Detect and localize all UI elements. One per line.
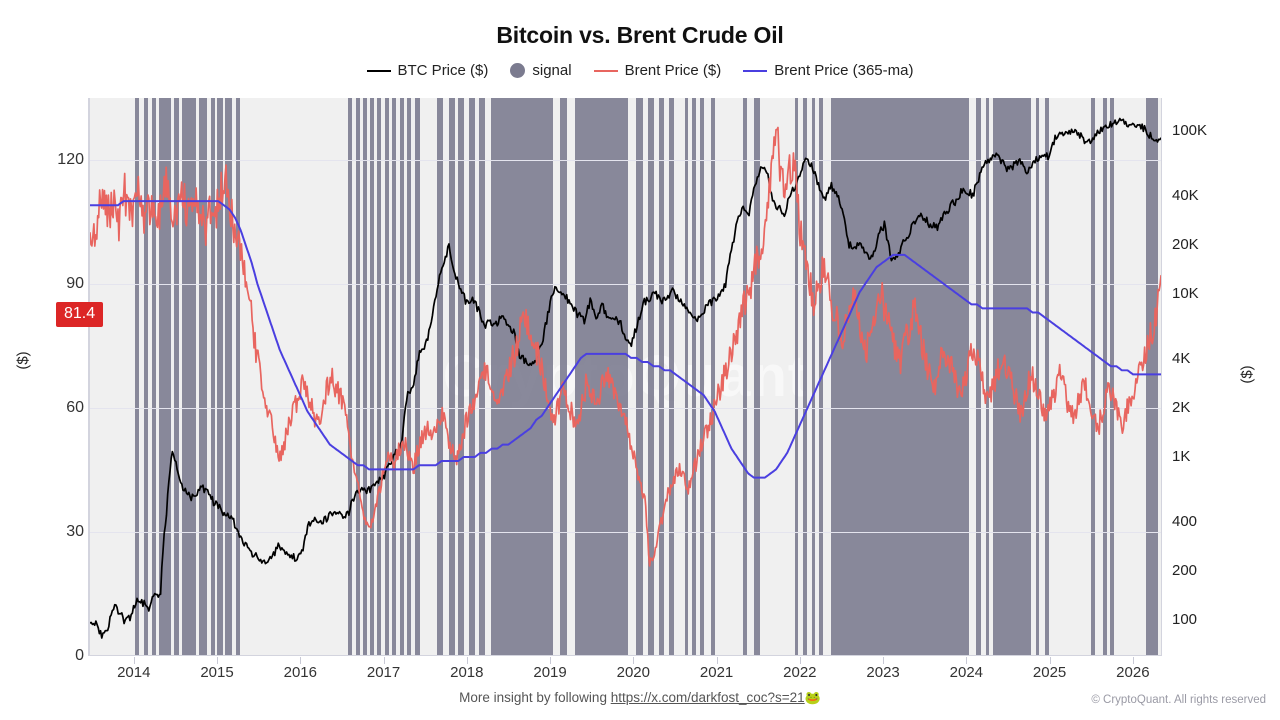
y-tick-right: 2K xyxy=(1172,399,1262,416)
legend-item-3[interactable]: Brent Price (365-ma) xyxy=(743,62,913,79)
legend-label: signal xyxy=(532,62,571,79)
x-tick-mark xyxy=(717,657,718,664)
legend-line-icon xyxy=(594,70,618,72)
x-tick-mark xyxy=(384,657,385,664)
y-tick-right: 20K xyxy=(1172,236,1262,253)
x-tick-mark xyxy=(883,657,884,664)
x-tick-mark xyxy=(550,657,551,664)
signal-dot-icon xyxy=(510,63,525,78)
y-tick-right: 100 xyxy=(1172,611,1262,628)
x-tick-label: 2022 xyxy=(760,664,840,681)
footer-link[interactable]: https://x.com/darkfost_coc?s=21 xyxy=(611,690,805,705)
y-tick-left: 90 xyxy=(4,275,84,293)
current-price-badge: 81.4 xyxy=(56,302,103,327)
x-tick-mark xyxy=(300,657,301,664)
x-tick-label: 2026 xyxy=(1093,664,1173,681)
x-tick-mark xyxy=(467,657,468,664)
legend-item-0[interactable]: BTC Price ($) xyxy=(367,62,489,79)
footer-note: More insight by following https://x.com/… xyxy=(0,690,1280,706)
y-tick-left: 0 xyxy=(4,647,84,665)
legend-line-icon xyxy=(743,70,767,72)
x-tick-mark xyxy=(217,657,218,664)
y-tick-right: 100K xyxy=(1172,122,1262,139)
plot-area: CryptoQuant xyxy=(88,98,1162,656)
x-tick-label: 2025 xyxy=(1010,664,1090,681)
x-tick-mark xyxy=(134,657,135,664)
y-tick-right: 1K xyxy=(1172,448,1262,465)
y-tick-left: 60 xyxy=(4,399,84,417)
x-tick-mark xyxy=(633,657,634,664)
x-tick-label: 2018 xyxy=(427,664,507,681)
y-tick-left: 30 xyxy=(4,523,84,541)
y-axis-left-label: ($) xyxy=(15,351,32,369)
x-tick-label: 2016 xyxy=(260,664,340,681)
copyright-notice: © CryptoQuant. All rights reserved xyxy=(1091,694,1266,706)
legend-item-1[interactable]: signal xyxy=(510,62,571,79)
x-tick-mark xyxy=(800,657,801,664)
x-tick-label: 2019 xyxy=(510,664,590,681)
legend-label: Brent Price (365-ma) xyxy=(774,62,913,79)
x-tick-label: 2017 xyxy=(344,664,424,681)
legend-item-2[interactable]: Brent Price ($) xyxy=(594,62,722,79)
x-tick-mark xyxy=(966,657,967,664)
y-tick-right: 40K xyxy=(1172,187,1262,204)
y-tick-left: 120 xyxy=(4,151,84,169)
chart-container: Bitcoin vs. Brent Crude Oil BTC Price ($… xyxy=(0,0,1280,720)
series-line-1 xyxy=(90,128,1161,566)
x-tick-label: 2014 xyxy=(94,664,174,681)
y-axis-right-label: ($) xyxy=(1239,365,1256,383)
x-tick-mark xyxy=(1133,657,1134,664)
series-line-0 xyxy=(90,119,1161,638)
legend-line-icon xyxy=(367,70,391,72)
chart-title: Bitcoin vs. Brent Crude Oil xyxy=(0,22,1280,49)
x-tick-label: 2015 xyxy=(177,664,257,681)
legend-label: BTC Price ($) xyxy=(398,62,489,79)
legend-label: Brent Price ($) xyxy=(625,62,722,79)
x-tick-label: 2021 xyxy=(677,664,757,681)
frog-icon: 🐸 xyxy=(805,690,821,705)
y-tick-right: 400 xyxy=(1172,513,1262,530)
y-tick-right: 10K xyxy=(1172,285,1262,302)
x-tick-label: 2020 xyxy=(593,664,673,681)
x-tick-label: 2024 xyxy=(926,664,1006,681)
y-tick-right: 200 xyxy=(1172,562,1262,579)
footer-text: More insight by following xyxy=(459,690,611,705)
chart-legend: BTC Price ($)signalBrent Price ($)Brent … xyxy=(0,62,1280,79)
series-layer xyxy=(90,98,1161,655)
x-tick-label: 2023 xyxy=(843,664,923,681)
x-tick-mark xyxy=(1050,657,1051,664)
